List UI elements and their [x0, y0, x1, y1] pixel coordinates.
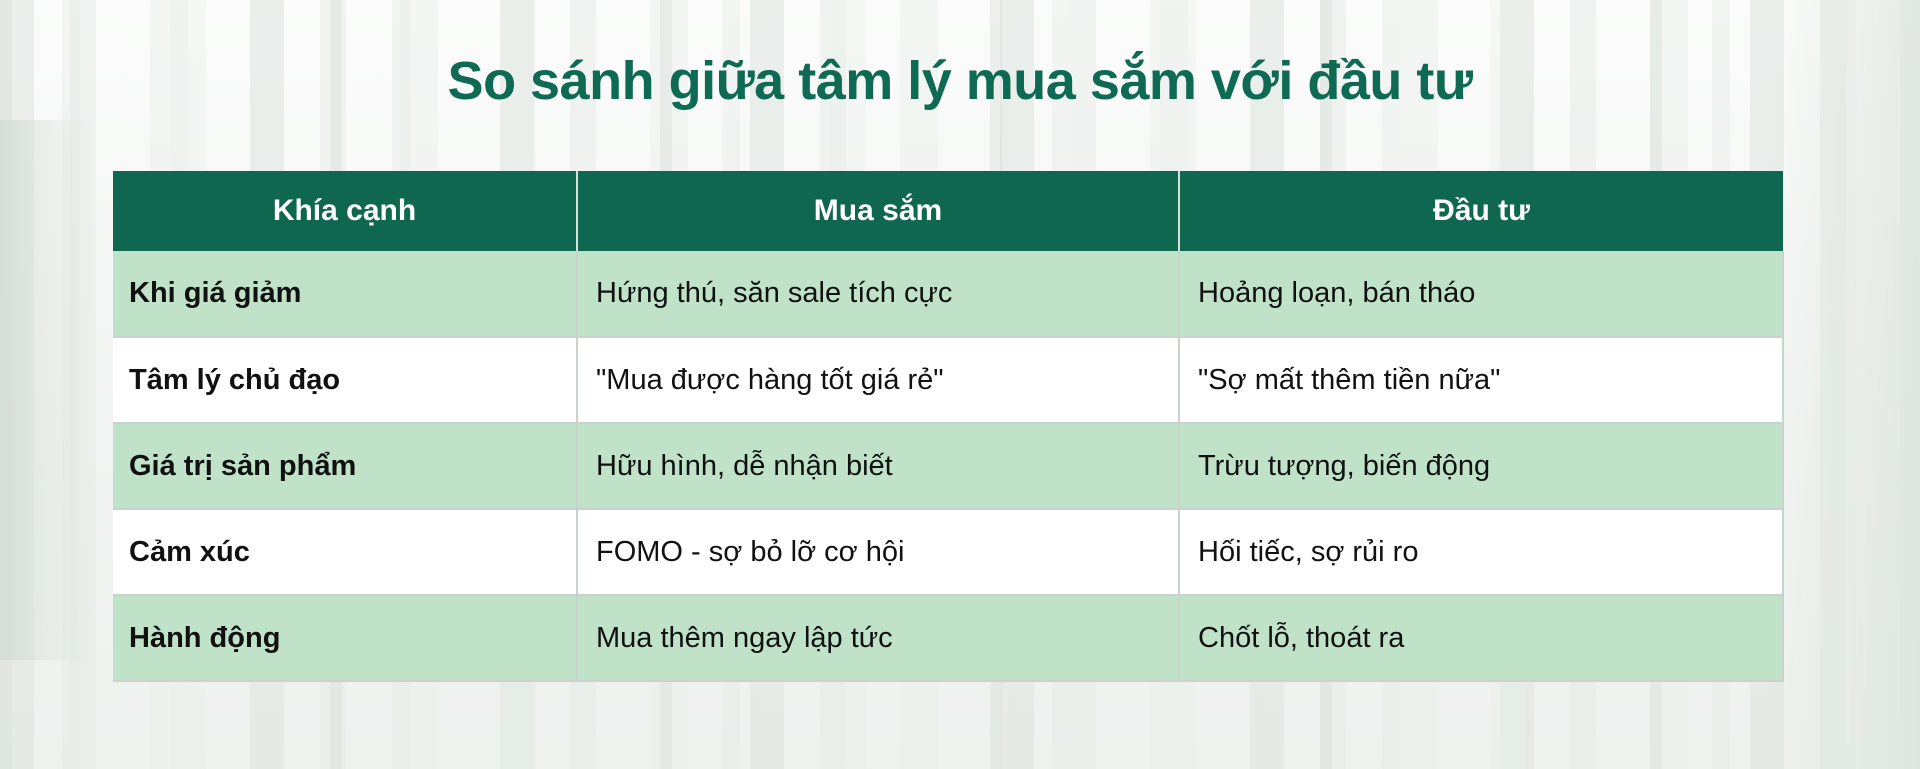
cell-investing: Trừu tượng, biến động	[1179, 423, 1783, 509]
table-row: Giá trị sản phẩm Hữu hình, dễ nhận biết …	[113, 423, 1783, 509]
cell-investing: Hoảng loạn, bán tháo	[1179, 251, 1783, 337]
table-header: Khía cạnh Mua sắm Đầu tư	[113, 171, 1783, 251]
column-header-investing: Đầu tư	[1179, 171, 1783, 251]
cell-shopping: Hữu hình, dễ nhận biết	[577, 423, 1179, 509]
cell-aspect: Giá trị sản phẩm	[113, 423, 577, 509]
cell-aspect: Tâm lý chủ đạo	[113, 337, 577, 423]
page-title: So sánh giữa tâm lý mua sắm với đầu tư	[0, 50, 1920, 112]
table-row: Cảm xúc FOMO - sợ bỏ lỡ cơ hội Hối tiếc,…	[113, 509, 1783, 595]
cell-shopping: Hứng thú, săn sale tích cực	[577, 251, 1179, 337]
table-header-row: Khía cạnh Mua sắm Đầu tư	[113, 171, 1783, 251]
cell-investing: "Sợ mất thêm tiền nữa"	[1179, 337, 1783, 423]
table-row: Tâm lý chủ đạo "Mua được hàng tốt giá rẻ…	[113, 337, 1783, 423]
column-header-aspect: Khía cạnh	[113, 171, 577, 251]
slide-canvas: So sánh giữa tâm lý mua sắm với đầu tư K…	[0, 0, 1920, 769]
column-header-shopping: Mua sắm	[577, 171, 1179, 251]
cell-investing: Chốt lỗ, thoát ra	[1179, 595, 1783, 681]
table-row: Hành động Mua thêm ngay lập tức Chốt lỗ,…	[113, 595, 1783, 681]
cell-shopping: Mua thêm ngay lập tức	[577, 595, 1179, 681]
cell-aspect: Cảm xúc	[113, 509, 577, 595]
cell-investing: Hối tiếc, sợ rủi ro	[1179, 509, 1783, 595]
cell-aspect: Hành động	[113, 595, 577, 681]
cell-aspect: Khi giá giảm	[113, 251, 577, 337]
cell-shopping: "Mua được hàng tốt giá rẻ"	[577, 337, 1179, 423]
comparison-table: Khía cạnh Mua sắm Đầu tư Khi giá giảm Hứ…	[113, 171, 1784, 682]
table-body: Khi giá giảm Hứng thú, săn sale tích cực…	[113, 251, 1783, 681]
table-row: Khi giá giảm Hứng thú, săn sale tích cực…	[113, 251, 1783, 337]
cell-shopping: FOMO - sợ bỏ lỡ cơ hội	[577, 509, 1179, 595]
